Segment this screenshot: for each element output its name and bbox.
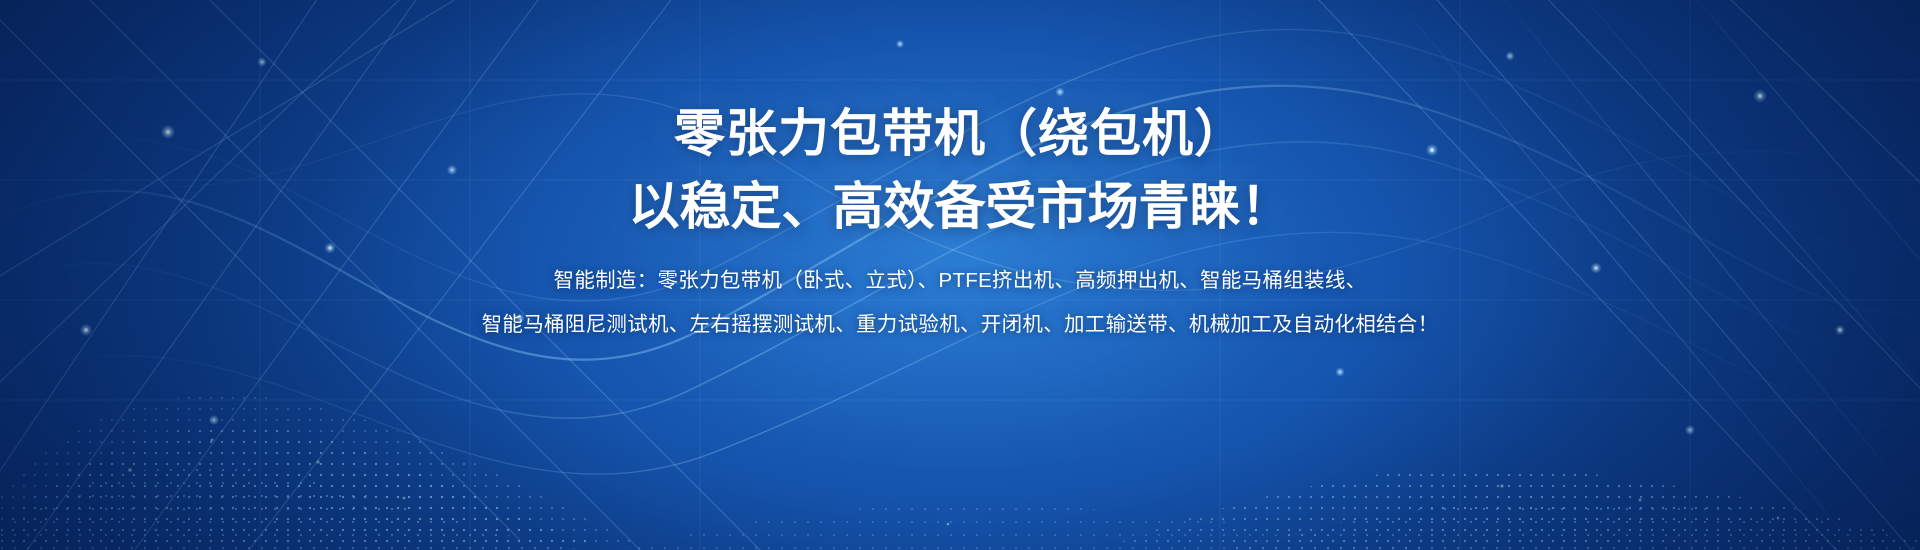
banner-subtitle-line-1: 智能制造：零张力包带机（卧式、立式）、PTFE挤出机、高频押出机、智能马桶组装线… <box>554 269 1367 294</box>
banner-content: 零张力包带机（绕包机） 以稳定、高效备受市场青睐！ 智能制造：零张力包带机（卧式… <box>0 0 1920 550</box>
banner-title-line-1: 零张力包带机（绕包机） <box>674 104 1246 163</box>
promotional-banner: 零张力包带机（绕包机） 以稳定、高效备受市场青睐！ 智能制造：零张力包带机（卧式… <box>0 0 1920 550</box>
banner-title-line-2: 以稳定、高效备受市场青睐！ <box>628 177 1291 236</box>
banner-subtitle-line-2: 智能马桶阻尼测试机、左右摇摆测试机、重力试验机、开闭机、加工输送带、机械加工及自… <box>482 313 1439 338</box>
